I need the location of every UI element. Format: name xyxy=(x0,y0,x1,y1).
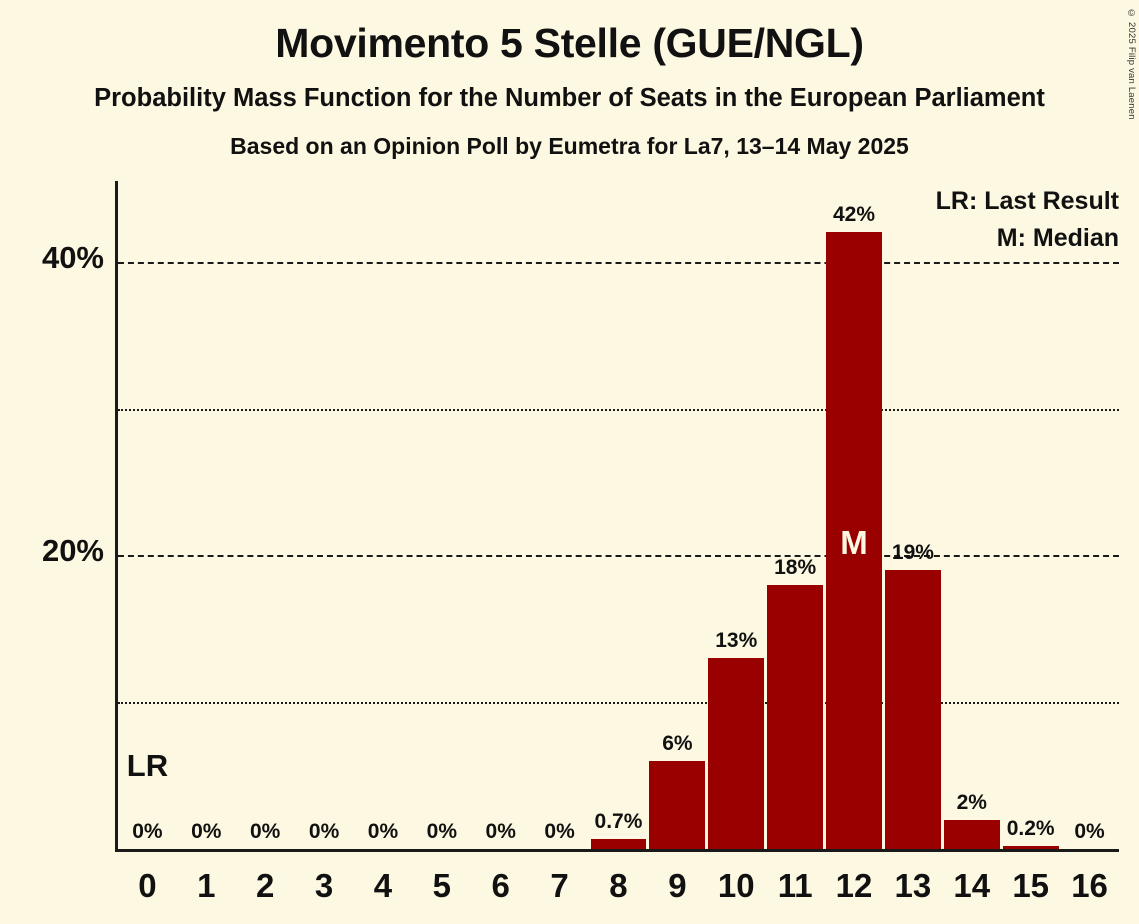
bar-value-label-seat-10: 13% xyxy=(697,629,776,653)
bar-seat-15 xyxy=(1003,846,1059,849)
bar-value-label-seat-9: 6% xyxy=(638,732,717,756)
x-tick-label-6: 6 xyxy=(471,867,530,905)
bar-value-label-seat-11: 18% xyxy=(756,556,835,580)
x-tick-label-8: 8 xyxy=(589,867,648,905)
x-tick-label-16: 16 xyxy=(1060,867,1119,905)
x-tick-label-15: 15 xyxy=(1001,867,1060,905)
y-tick-label-40pct: 40% xyxy=(0,240,104,276)
last-result-marker: LR xyxy=(118,748,177,784)
x-tick-label-13: 13 xyxy=(883,867,942,905)
page-title: Movimento 5 Stelle (GUE/NGL) xyxy=(0,22,1139,65)
x-tick-label-5: 5 xyxy=(412,867,471,905)
x-tick-label-10: 10 xyxy=(707,867,766,905)
plot-area xyxy=(118,181,1119,849)
gridline-20pct xyxy=(118,555,1119,557)
gridline-10pct xyxy=(118,702,1119,704)
x-tick-label-3: 3 xyxy=(295,867,354,905)
gridline-40pct xyxy=(118,262,1119,264)
x-tick-label-9: 9 xyxy=(648,867,707,905)
chart-subtitle: Probability Mass Function for the Number… xyxy=(0,85,1139,112)
bar-value-label-seat-8: 0.7% xyxy=(579,810,658,834)
y-tick-label-20pct: 20% xyxy=(0,533,104,569)
x-tick-label-7: 7 xyxy=(530,867,589,905)
bar-value-label-seat-14: 2% xyxy=(932,791,1011,815)
x-tick-label-0: 0 xyxy=(118,867,177,905)
chart-page: © 2025 Filip van Laenen Movimento 5 Stel… xyxy=(0,0,1139,924)
chart-source-line: Based on an Opinion Poll by Eumetra for … xyxy=(0,134,1139,158)
x-tick-label-12: 12 xyxy=(825,867,884,905)
bar-value-label-seat-16: 0% xyxy=(1050,820,1129,844)
x-tick-label-11: 11 xyxy=(766,867,825,905)
x-axis-line xyxy=(115,849,1119,852)
title-block: Movimento 5 Stelle (GUE/NGL) Probability… xyxy=(0,0,1139,158)
bar-seat-9 xyxy=(649,761,705,849)
bar-value-label-seat-13: 19% xyxy=(873,541,952,565)
x-tick-label-1: 1 xyxy=(177,867,236,905)
bar-seat-11 xyxy=(767,585,823,849)
x-tick-label-4: 4 xyxy=(354,867,413,905)
x-tick-label-2: 2 xyxy=(236,867,295,905)
bar-value-label-seat-12: 42% xyxy=(815,203,894,227)
x-tick-label-14: 14 xyxy=(942,867,1001,905)
gridline-30pct xyxy=(118,409,1119,411)
